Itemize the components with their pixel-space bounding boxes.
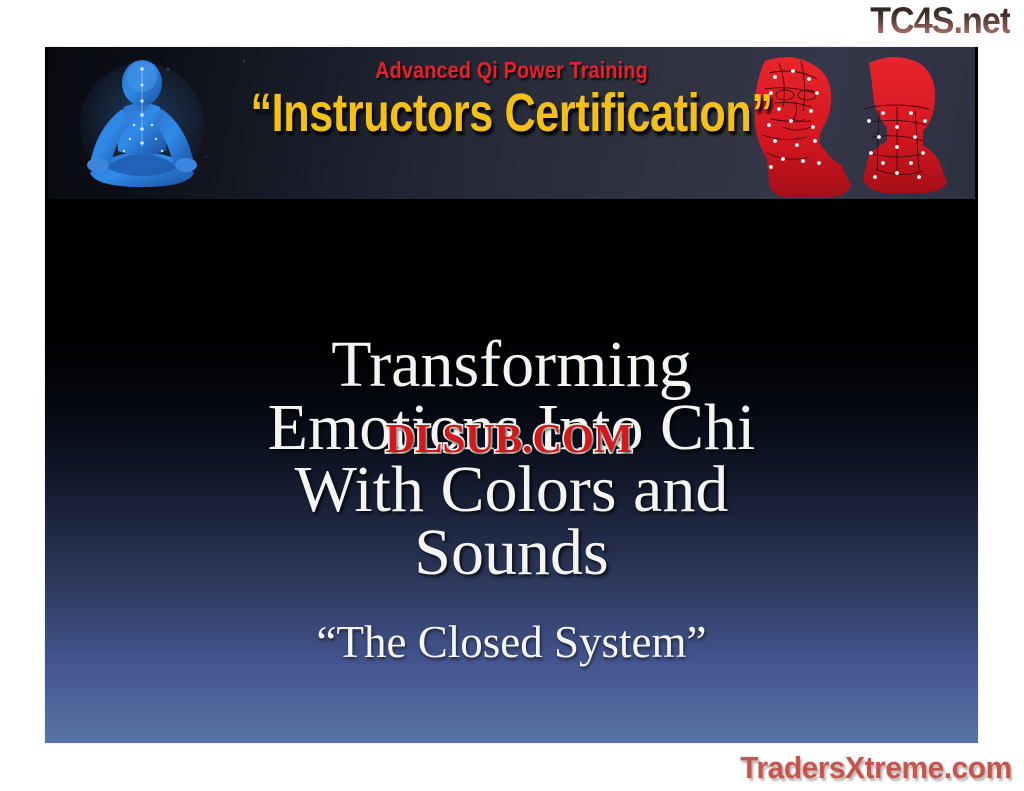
title-line: Transforming [105, 334, 918, 397]
dlsub-watermark: DLSUB.COM [385, 418, 632, 459]
tradersxtreme-watermark: TradersXtreme.com [741, 752, 1012, 783]
presentation-slide: Advanced Qi Power Training “Instructors … [45, 47, 978, 743]
title-line: Sounds [105, 522, 918, 585]
banner-title-text: “Instructors Certification” [141, 85, 883, 142]
page-subtitle: “The Closed System” [105, 620, 918, 665]
banner-eyebrow-text: Advanced Qi Power Training [113, 57, 910, 84]
tc4s-watermark: TC4S.net [870, 2, 1010, 39]
title-line: With Colors and [105, 459, 918, 522]
course-banner: Advanced Qi Power Training “Instructors … [48, 47, 975, 199]
